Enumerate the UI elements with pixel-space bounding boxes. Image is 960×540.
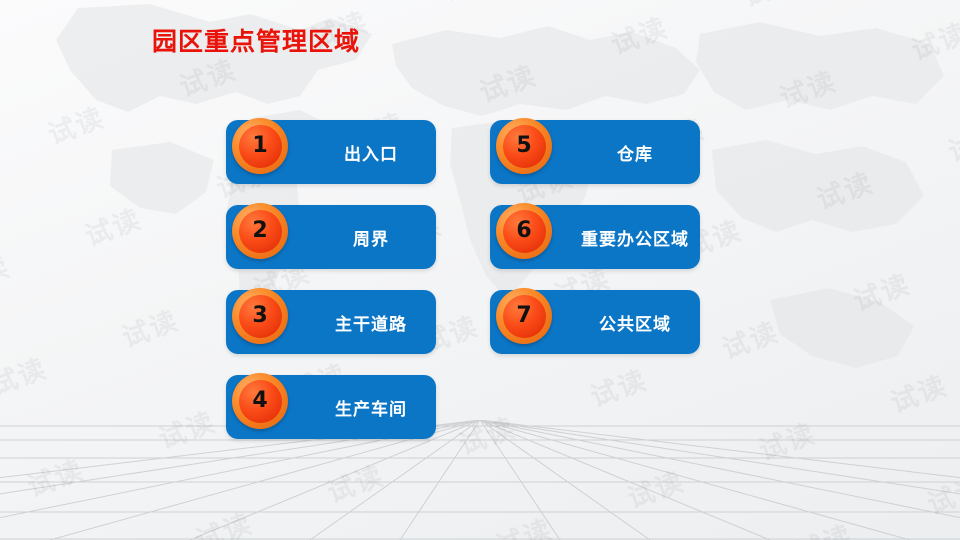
- number-badge: 5: [496, 118, 552, 174]
- badge-number: 4: [252, 390, 267, 412]
- watermark-text: 试读: [605, 5, 673, 61]
- watermark-text: 试读: [621, 459, 689, 515]
- watermark-text: 试读: [79, 197, 147, 253]
- watermark-text: 试读: [489, 507, 557, 540]
- number-badge: 2: [232, 203, 288, 259]
- card-item-3[interactable]: 3 主干道路: [226, 290, 436, 354]
- watermark-text: 试读: [0, 346, 52, 402]
- watermark-text: 试读: [0, 245, 15, 301]
- card-label: 主干道路: [314, 310, 428, 335]
- watermark-text: 试读: [753, 411, 821, 467]
- number-badge-inner: 7: [503, 295, 546, 338]
- number-badge-inner: 3: [239, 295, 282, 338]
- badge-number: 6: [516, 220, 531, 242]
- badge-number: 3: [252, 305, 267, 327]
- number-badge: 6: [496, 203, 552, 259]
- badge-number: 1: [252, 135, 267, 157]
- badge-number: 5: [516, 135, 531, 157]
- watermark-text: 试读: [452, 405, 520, 461]
- watermark-text: 试读: [921, 465, 960, 521]
- number-badge: 3: [232, 288, 288, 344]
- card-item-5[interactable]: 5 仓库: [490, 120, 700, 184]
- number-badge-inner: 4: [239, 380, 282, 423]
- card-label: 仓库: [578, 140, 692, 165]
- watermark-text: 试读: [942, 112, 960, 168]
- watermark-text: 试读: [436, 0, 504, 8]
- slide-canvas: 试读 试读 试读 试读 试读 试读 试读 试读 试读 试读 试读 试读 试读 试…: [0, 0, 960, 540]
- card-column-right: 5 仓库 6 重要办公区域 7 公共区域: [490, 120, 700, 375]
- number-badge: 1: [232, 118, 288, 174]
- card-item-6[interactable]: 6 重要办公区域: [490, 205, 700, 269]
- card-item-2[interactable]: 2 周界: [226, 205, 436, 269]
- watermark-text: 试读: [773, 59, 841, 115]
- watermark-text: 试读: [736, 0, 804, 14]
- watermark-text: 试读: [152, 400, 220, 456]
- card-label: 出入口: [314, 140, 428, 165]
- world-map-background: [0, 0, 960, 540]
- watermark-text: 试读: [189, 501, 257, 540]
- number-badge: 4: [232, 373, 288, 429]
- card-item-1[interactable]: 1 出入口: [226, 120, 436, 184]
- page-title: 园区重点管理区域: [152, 22, 360, 58]
- number-badge-inner: 2: [239, 210, 282, 253]
- watermark-layer: 试读 试读 试读 试读 试读 试读 试读 试读 试读 试读 试读 试读 试读 试…: [0, 0, 960, 540]
- watermark-text: 试读: [321, 453, 389, 509]
- watermark-text: 试读: [42, 95, 110, 151]
- perspective-grid-floor: [0, 420, 960, 540]
- card-item-7[interactable]: 7 公共区域: [490, 290, 700, 354]
- watermark-text: 试读: [884, 363, 952, 419]
- number-badge: 7: [496, 288, 552, 344]
- watermark-text: 试读: [473, 53, 541, 109]
- card-label: 周界: [314, 225, 428, 250]
- card-label: 重要办公区域: [578, 225, 692, 250]
- card-column-left: 1 出入口 2 周界 3 主干道路 4: [226, 120, 436, 460]
- watermark-text: 试读: [21, 448, 89, 504]
- number-badge-inner: 1: [239, 125, 282, 168]
- number-badge-inner: 5: [503, 125, 546, 168]
- watermark-text: 试读: [847, 262, 915, 318]
- watermark-text: 试读: [905, 11, 960, 67]
- watermark-text: 试读: [115, 298, 183, 354]
- badge-number: 7: [516, 305, 531, 327]
- watermark-text: 试读: [716, 310, 784, 366]
- card-label: 公共区域: [578, 310, 692, 335]
- watermark-text: 试读: [789, 513, 857, 540]
- watermark-text: 试读: [810, 160, 878, 216]
- card-label: 生产车间: [314, 395, 428, 420]
- card-item-4[interactable]: 4 生产车间: [226, 375, 436, 439]
- number-badge-inner: 6: [503, 210, 546, 253]
- badge-number: 2: [252, 220, 267, 242]
